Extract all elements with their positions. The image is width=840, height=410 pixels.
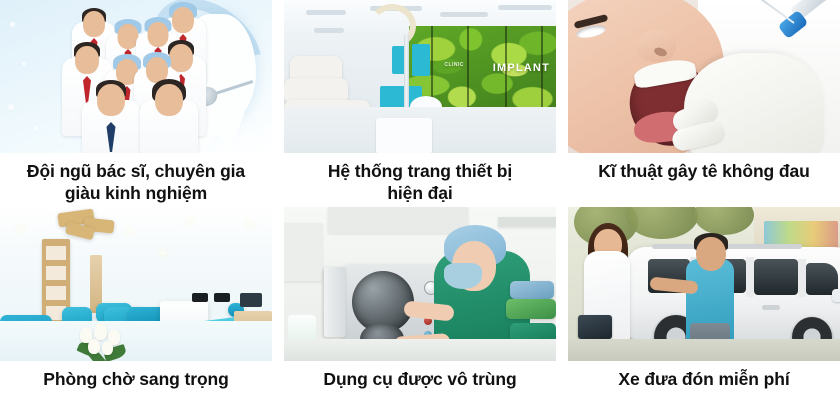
downlight bbox=[18, 227, 25, 231]
feature-card-doctors-team[interactable]: Đội ngũ bác sĩ, chuyên gia giàu kinh ngh… bbox=[0, 0, 272, 207]
wall-rack bbox=[498, 217, 556, 227]
ceiling-light bbox=[314, 28, 344, 33]
wall-cabinet bbox=[328, 207, 468, 233]
implant-wordmark: IMPLANT bbox=[493, 62, 550, 74]
shelf-box bbox=[45, 265, 67, 281]
photo-modern-equipment: CLINIC IMPLANT bbox=[284, 0, 556, 153]
tulip-flower bbox=[88, 339, 100, 354]
folded-linen bbox=[506, 299, 556, 319]
photo-painless-anesthesia bbox=[568, 0, 840, 153]
sparkle-icon bbox=[10, 22, 15, 27]
downlight bbox=[160, 251, 166, 255]
tulip-flower bbox=[94, 323, 107, 340]
caption-doctors-team: Đội ngũ bác sĩ, chuyên gia giàu kinh ngh… bbox=[0, 153, 272, 207]
feature-card-sterilization[interactable]: Dụng cụ được vô trùng bbox=[284, 207, 556, 410]
folded-linen bbox=[510, 281, 554, 299]
caption-text: Hệ thống trang thiết bị hiện đại bbox=[328, 160, 512, 205]
downlight bbox=[126, 229, 133, 233]
caption-sterilization: Dụng cụ được vô trùng bbox=[284, 361, 556, 410]
monitor bbox=[192, 293, 208, 302]
car-pillar bbox=[798, 259, 806, 297]
features-grid: Đội ngũ bác sĩ, chuyên gia giàu kinh ngh… bbox=[0, 0, 840, 410]
photo-doctors-team bbox=[0, 0, 272, 153]
shelf-box bbox=[45, 285, 67, 301]
sparkle-icon bbox=[34, 126, 38, 130]
car-pillar bbox=[746, 257, 754, 297]
caption-free-shuttle: Xe đưa đón miễn phí bbox=[568, 361, 840, 410]
doctor-figure bbox=[140, 100, 198, 153]
caption-text: Kĩ thuật gây tê không đau bbox=[598, 160, 809, 182]
floor bbox=[0, 321, 272, 361]
nose bbox=[636, 30, 676, 62]
caption-painless-anesthesia: Kĩ thuật gây tê không đau bbox=[568, 153, 840, 207]
driver-head bbox=[696, 237, 726, 271]
head bbox=[172, 7, 194, 33]
ceiling-light bbox=[440, 12, 488, 17]
head bbox=[169, 44, 193, 72]
sparkle-icon bbox=[8, 104, 14, 110]
doctor-figure bbox=[82, 100, 140, 153]
accent-panel bbox=[412, 44, 430, 76]
feature-card-painless-anesthesia[interactable]: Kĩ thuật gây tê không đau bbox=[568, 0, 840, 207]
road bbox=[568, 339, 840, 361]
monitor bbox=[214, 293, 230, 302]
photo-waiting-room bbox=[0, 207, 272, 361]
monitor bbox=[240, 293, 262, 307]
car-window bbox=[754, 259, 798, 295]
head bbox=[148, 22, 169, 47]
shelf-box bbox=[45, 245, 67, 261]
ceiling-light bbox=[498, 5, 552, 10]
feature-card-free-shuttle[interactable]: Xe đưa đón miễn phí bbox=[568, 207, 840, 410]
equipment-pole bbox=[404, 34, 409, 112]
photo-free-shuttle bbox=[568, 207, 840, 361]
autoclave-door bbox=[324, 267, 346, 337]
ceiling bbox=[0, 207, 272, 259]
head bbox=[83, 11, 105, 37]
door-handle bbox=[762, 305, 780, 310]
caption-text: Dụng cụ được vô trùng bbox=[323, 368, 516, 390]
sparkle-icon bbox=[22, 62, 26, 66]
handbag bbox=[578, 315, 612, 339]
downlight bbox=[246, 221, 253, 225]
clinic-wordmark-small: CLINIC bbox=[444, 62, 464, 68]
tulip-flower bbox=[102, 341, 113, 355]
caption-waiting-room: Phòng chờ sang trọng bbox=[0, 361, 272, 410]
feature-card-waiting-room[interactable]: Phòng chờ sang trọng bbox=[0, 207, 272, 410]
side-mirror bbox=[832, 289, 840, 302]
head bbox=[155, 84, 183, 116]
caption-text: Xe đưa đón miễn phí bbox=[618, 368, 789, 390]
ceiling-light bbox=[306, 10, 346, 15]
photo-sterilization bbox=[284, 207, 556, 361]
downlight bbox=[186, 219, 193, 223]
counter bbox=[284, 339, 556, 361]
head bbox=[97, 84, 125, 116]
head bbox=[75, 46, 99, 74]
wall-cabinet bbox=[284, 223, 322, 281]
face-mask bbox=[444, 263, 482, 289]
cabinet bbox=[376, 118, 432, 153]
feature-card-modern-equipment[interactable]: CLINIC IMPLANT Hệ thống trang thiết bị h… bbox=[284, 0, 556, 207]
caption-text: Phòng chờ sang trọng bbox=[43, 368, 228, 390]
necktie bbox=[107, 122, 116, 152]
caption-text: Đội ngũ bác sĩ, chuyên gia giàu kinh ngh… bbox=[27, 160, 245, 205]
caption-modern-equipment: Hệ thống trang thiết bị hiện đại bbox=[284, 153, 556, 207]
